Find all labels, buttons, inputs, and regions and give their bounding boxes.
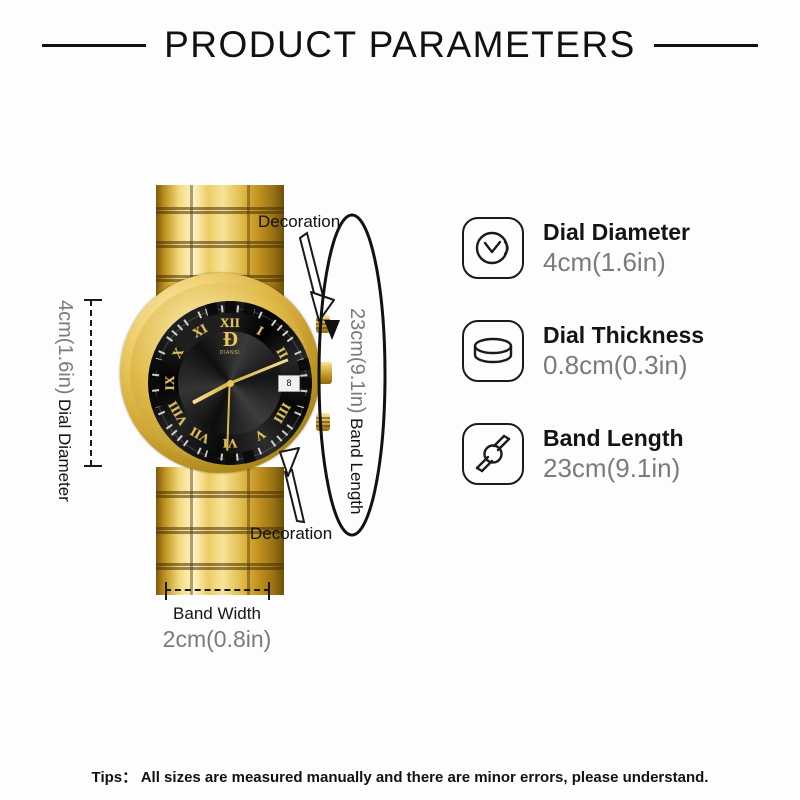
dial-hour-marker (148, 378, 160, 389)
dial-roman-numeral: VI (223, 435, 238, 451)
header-rule-right (654, 44, 758, 47)
logo-wordmark: DIANSI (206, 350, 254, 356)
product-parameters-page: PRODUCT PARAMETERS (0, 0, 800, 800)
footer-tips: Tips： All sizes are measured manually an… (0, 766, 800, 787)
specifications-list: Dial Diameter 4cm(1.6in) Dial Thickness … (462, 204, 782, 513)
dial-roman-numeral: IX (162, 376, 178, 391)
band-length-callout-title: Band Length (347, 418, 366, 514)
decoration-label-top: Decoration (258, 212, 340, 232)
band-length-callout: 23cm(9.1in) Band Length (345, 308, 368, 514)
watch-dial-icon (462, 217, 524, 279)
dial-diameter-callout-value: 4cm(1.6in) (54, 300, 76, 394)
dial-diameter-dimension-line (90, 300, 93, 466)
band-width-callout-value: 2cm(0.8in) (117, 625, 317, 653)
spec-row-dial-thickness: Dial Thickness 0.8cm(0.3in) (462, 307, 782, 395)
watch-dial-icon-glyph (471, 226, 515, 270)
watch-case: XIIIIIIIIIIIIVVIVIIVIIIIXXXI Đ DIANSI 8 (120, 273, 320, 473)
spec-row-dial-diameter: Dial Diameter 4cm(1.6in) (462, 204, 782, 292)
dial-hour-marker (242, 450, 256, 464)
dial-hour-marker (225, 301, 236, 313)
watch-dial: XIIIIIIIIIIIIVVIVIIVIIIIXXXI Đ DIANSI 8 (148, 301, 312, 465)
page-header: PRODUCT PARAMETERS (0, 14, 800, 76)
spec-text-dial-diameter: Dial Diameter 4cm(1.6in) (543, 218, 690, 278)
dial-hour-marker (149, 358, 163, 372)
cylinder-thickness-icon (462, 320, 524, 382)
spec-value-dial-diameter: 4cm(1.6in) (543, 246, 690, 278)
hands-pin (227, 380, 234, 387)
watch-band-icon-glyph (471, 432, 515, 476)
spec-title-dial-thickness: Dial Thickness (543, 321, 704, 349)
watch-bezel: XIIIIIIIIIIIIVVIVIIVIIIIXXXI Đ DIANSI 8 (130, 283, 310, 463)
spec-text-band-length: Band Length 23cm(9.1in) (543, 424, 684, 484)
dial-hour-marker (300, 378, 312, 389)
band-width-callout-title: Band Width (117, 603, 317, 625)
dial-hour-marker (242, 302, 256, 316)
decoration-pusher-top (316, 315, 330, 333)
dial-diameter-callout: 4cm(1.6in) Dial Diameter (53, 300, 76, 502)
header-rule-left (42, 44, 146, 47)
spec-title-dial-diameter: Dial Diameter (543, 218, 690, 246)
spec-title-band-length: Band Length (543, 424, 684, 452)
dial-minute-tick (152, 374, 159, 376)
band-width-dimension-line (165, 589, 270, 592)
dial-diameter-callout-title: Dial Diameter (54, 399, 74, 502)
cylinder-thickness-icon-glyph (470, 329, 516, 373)
watch-band-icon (462, 423, 524, 485)
spec-value-band-length: 23cm(9.1in) (543, 452, 684, 484)
spec-row-band-length: Band Length 23cm(9.1in) (462, 410, 782, 498)
band-width-callout: Band Width 2cm(0.8in) (117, 603, 317, 653)
spec-value-dial-thickness: 0.8cm(0.3in) (543, 349, 704, 381)
dial-hour-marker (205, 450, 219, 464)
logo-glyph: Đ (206, 329, 254, 349)
date-window: 8 (278, 375, 300, 392)
decoration-label-bottom: Decoration (250, 524, 332, 544)
brand-logo: Đ DIANSI (206, 329, 254, 356)
dial-hour-marker (225, 453, 236, 465)
dial-hour-marker (205, 302, 219, 316)
band-length-callout-value: 23cm(9.1in) (346, 308, 368, 414)
spec-text-dial-thickness: Dial Thickness 0.8cm(0.3in) (543, 321, 704, 381)
dial-hour-marker (297, 358, 311, 372)
page-title: PRODUCT PARAMETERS (164, 24, 636, 66)
watch-crown (318, 362, 332, 384)
decoration-pusher-bottom (316, 413, 330, 431)
